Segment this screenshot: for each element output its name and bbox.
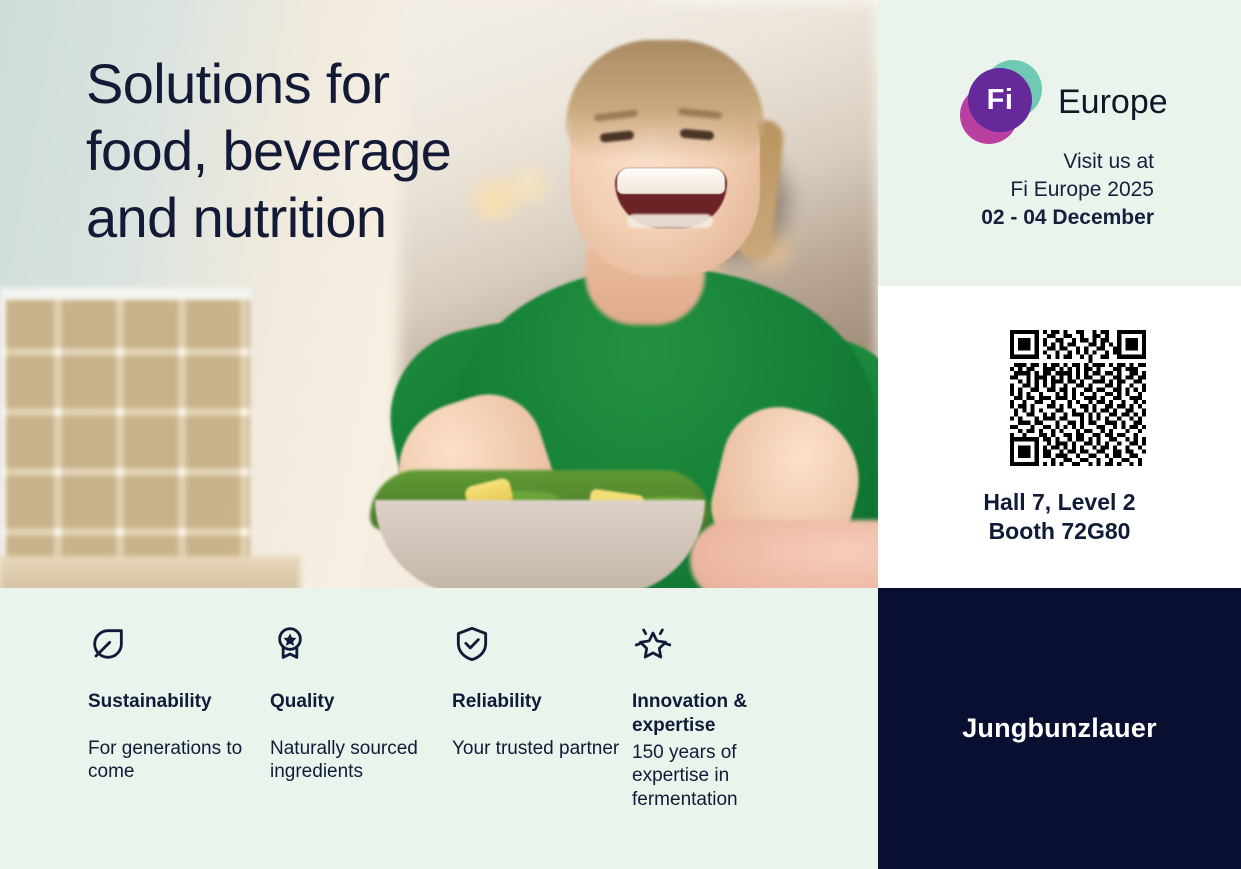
value-column-quality: Quality Naturally sourced ingredients bbox=[270, 624, 440, 783]
value-column-sustainability: Sustainability For generations to come bbox=[88, 624, 258, 783]
company-name: Jungbunzlauer bbox=[878, 713, 1241, 744]
value-description: 150 years of expertise in fermentation bbox=[632, 741, 802, 811]
value-title: Reliability bbox=[452, 690, 622, 714]
fi-logo-mark-icon: Fi bbox=[960, 60, 1044, 144]
value-description: For generations to come bbox=[88, 737, 258, 784]
value-title: Innovation & expertise bbox=[632, 690, 802, 737]
qr-panel: Hall 7, Level 2 Booth 72G80 bbox=[878, 286, 1241, 588]
shield-check-icon bbox=[452, 624, 622, 668]
fi-europe-panel: Fi Europe Visit us at Fi Europe 2025 02 … bbox=[878, 0, 1241, 286]
value-title: Quality bbox=[270, 690, 440, 714]
award-medal-star-icon bbox=[270, 624, 440, 668]
visit-dates: 02 - 04 December bbox=[981, 204, 1154, 232]
fi-logo-mark-label: Fi bbox=[968, 68, 1032, 132]
fi-europe-trade-show-poster: Solutions for food, beverage and nutriti… bbox=[0, 0, 1241, 869]
booth-location: Hall 7, Level 2 Booth 72G80 bbox=[878, 488, 1241, 547]
value-column-innovation: Innovation & expertise 150 years of expe… bbox=[632, 624, 802, 811]
lower-teeth bbox=[627, 214, 713, 228]
brand-panel: Jungbunzlauer bbox=[878, 588, 1241, 869]
fi-logo-wordmark: Europe bbox=[1058, 83, 1168, 122]
beige-tile-wall bbox=[0, 300, 250, 588]
leaf-icon bbox=[88, 624, 258, 668]
upper-teeth bbox=[617, 168, 725, 194]
counter-surface bbox=[0, 556, 300, 588]
value-title: Sustainability bbox=[88, 690, 258, 714]
page-title: Solutions for food, beverage and nutriti… bbox=[86, 50, 506, 252]
sparkle-star-icon bbox=[632, 624, 802, 668]
value-description: Your trusted partner bbox=[452, 737, 622, 760]
visit-info: Visit us at Fi Europe 2025 02 - 04 Decem… bbox=[981, 148, 1154, 232]
visit-line-2: Fi Europe 2025 bbox=[981, 176, 1154, 204]
booth-number: Booth 72G80 bbox=[878, 517, 1241, 546]
qr-code-icon[interactable] bbox=[1010, 330, 1146, 466]
salad-bowl bbox=[375, 500, 705, 588]
booth-hall-level: Hall 7, Level 2 bbox=[878, 488, 1241, 517]
value-description: Naturally sourced ingredients bbox=[270, 737, 440, 784]
second-person-hand bbox=[690, 520, 878, 588]
fi-europe-logo: Fi Europe bbox=[960, 60, 1168, 144]
values-strip: Sustainability For generations to come Q… bbox=[0, 588, 878, 869]
hero-photo: Solutions for food, beverage and nutriti… bbox=[0, 0, 878, 588]
value-column-reliability: Reliability Your trusted partner bbox=[452, 624, 622, 760]
visit-line-1: Visit us at bbox=[981, 148, 1154, 176]
